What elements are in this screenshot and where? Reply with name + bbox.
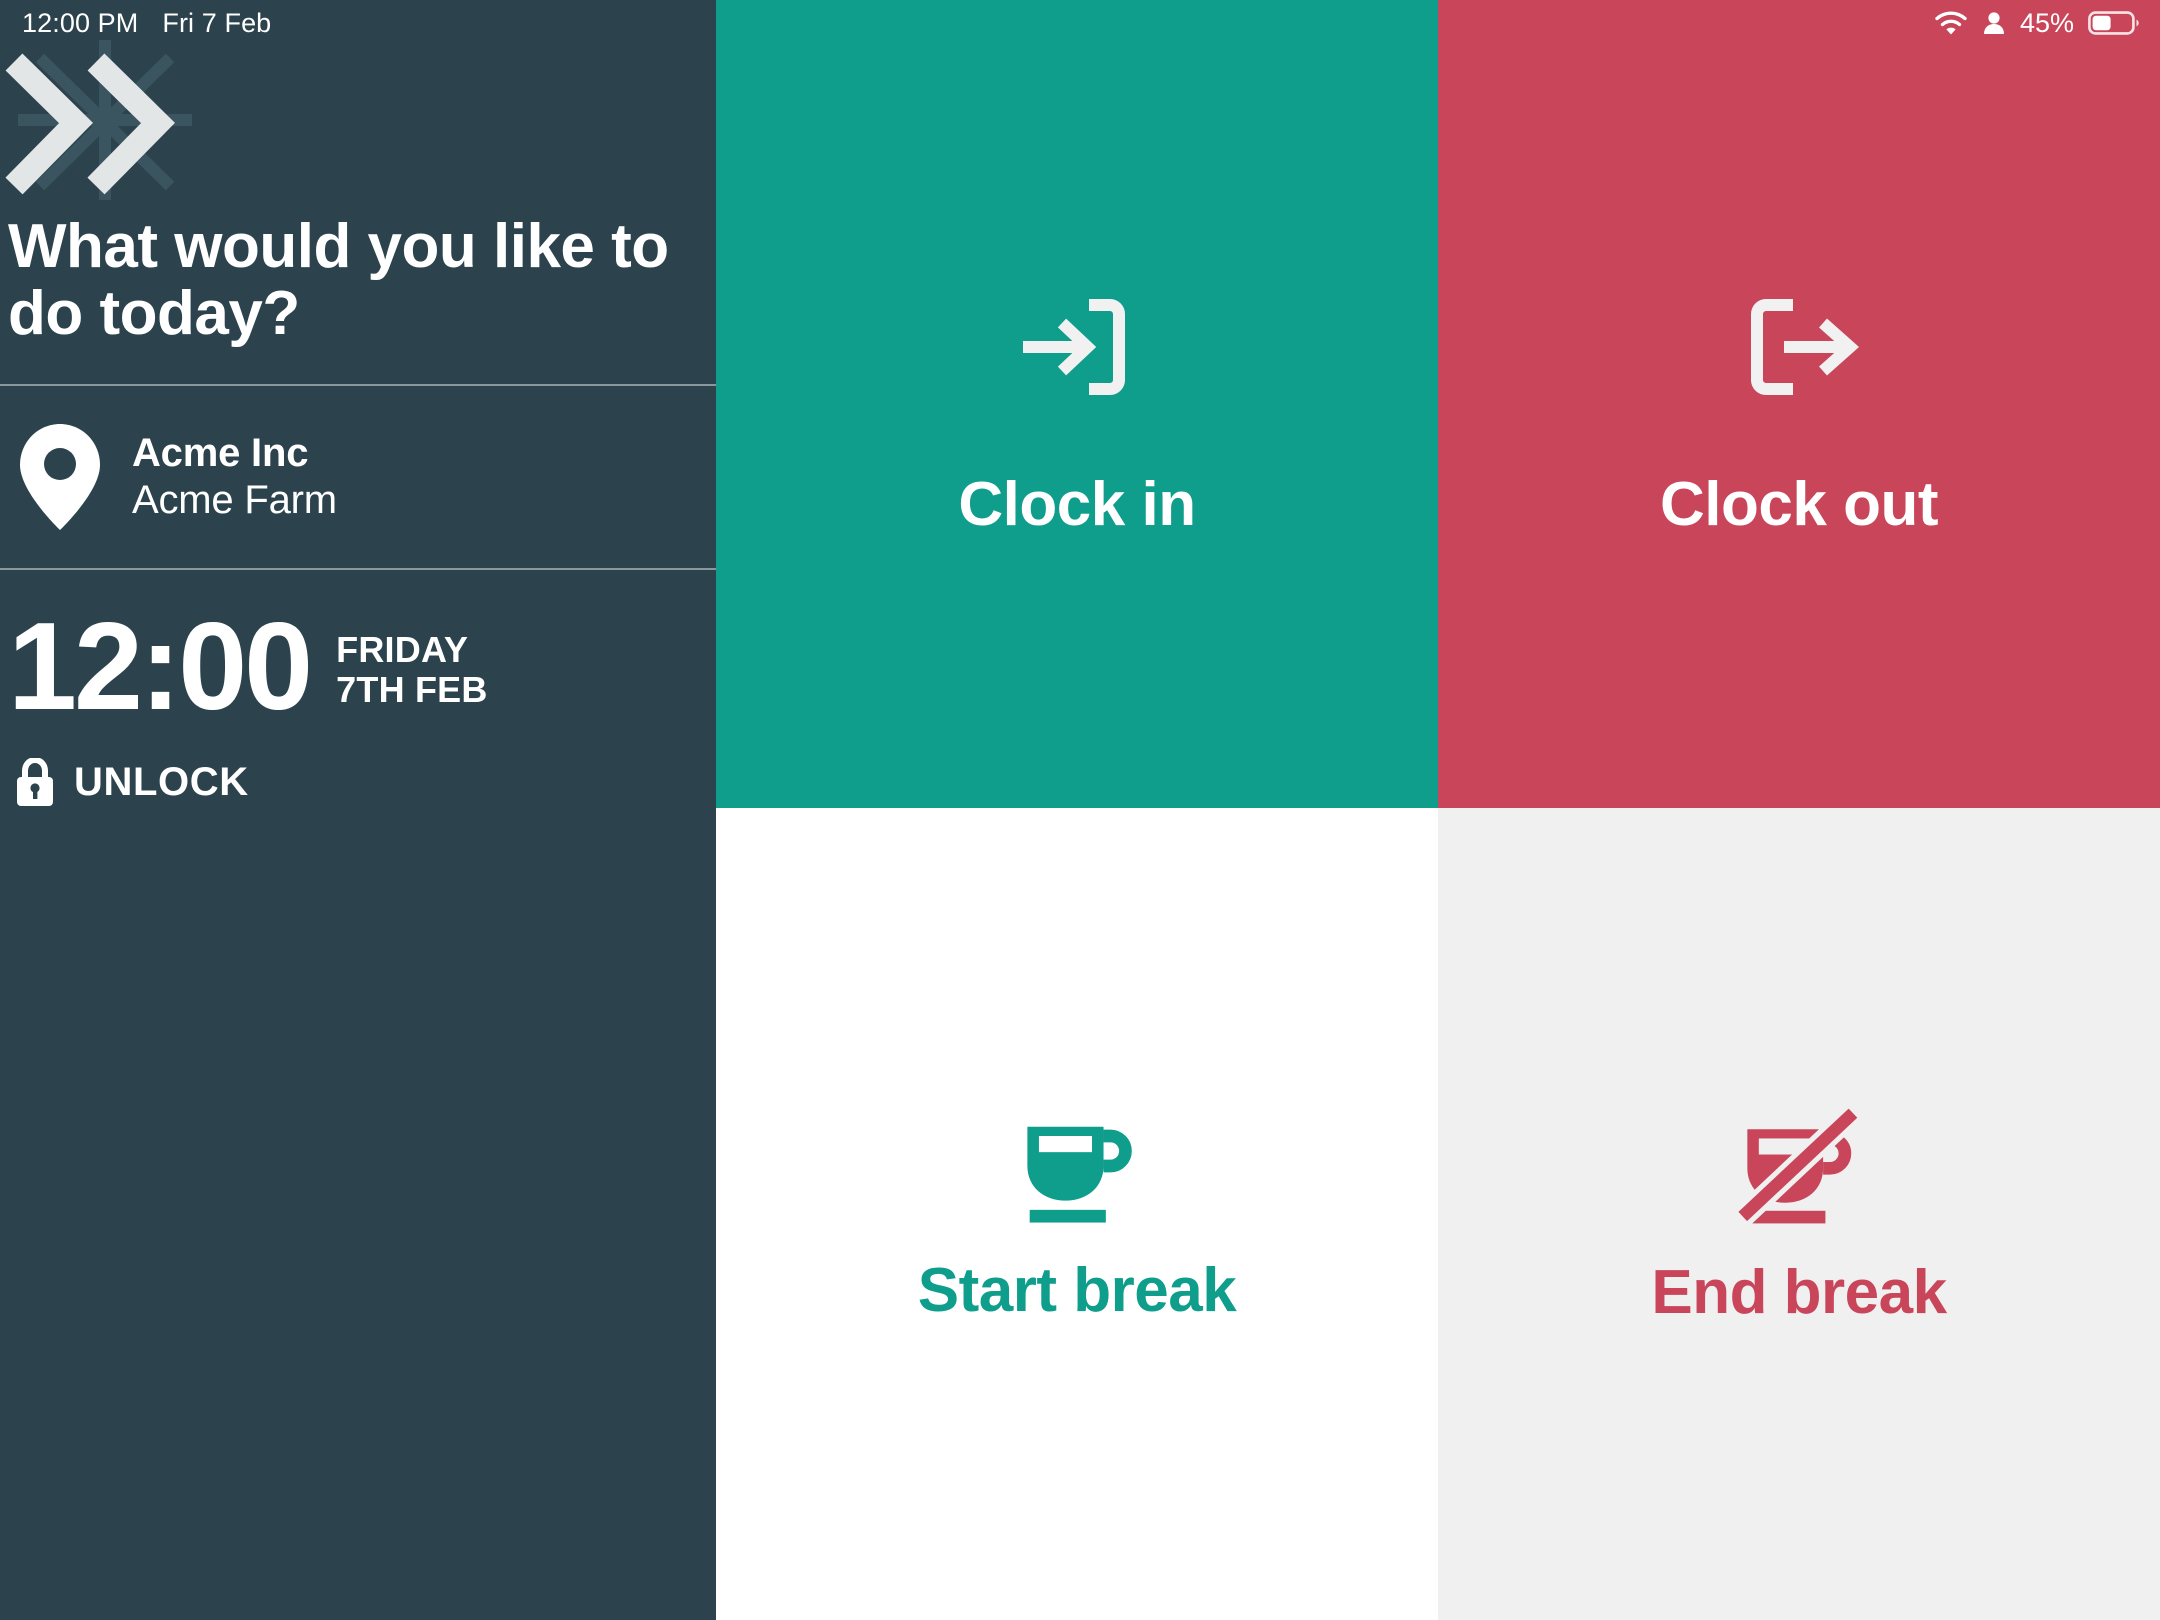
status-bar-date: Fri 7 Feb [162,8,271,39]
start-break-label: Start break [918,1260,1236,1322]
login-arrow-icon [1002,272,1152,422]
coffee-cup-icon [1013,1106,1141,1226]
heading-block: What would you like to do today? [0,214,716,348]
clock-in-label: Clock in [958,474,1195,536]
current-day-of-week: FRIDAY [336,630,487,670]
sidebar-panel: 12:00 PM Fri 7 Feb What would you li [0,0,716,1620]
current-day-of-month: 7TH FEB [336,670,487,710]
clock-row: 12:00 FRIDAY 7TH FEB [8,610,706,724]
status-bar-right: 45% [1934,0,2160,46]
double-chevron-logo-icon [0,40,210,200]
unlock-button[interactable]: UNLOCK [8,758,706,808]
location-text: Acme Inc Acme Farm [132,430,337,524]
status-bar-time: 12:00 PM [22,8,138,39]
padlock-locked-icon [14,758,56,808]
end-break-label: End break [1651,1262,1946,1324]
app-logo [0,40,210,200]
current-date: FRIDAY 7TH FEB [336,624,487,711]
clock-out-label: Clock out [1660,474,1938,536]
unlock-label: UNLOCK [74,760,249,805]
coffee-cup-slashed-icon [1731,1104,1867,1228]
status-bar-left: 12:00 PM Fri 7 Feb [0,0,716,46]
location-row[interactable]: Acme Inc Acme Farm [0,386,716,568]
person-icon [1982,10,2006,36]
action-grid: Clock in Clock out Start break [716,0,2160,1620]
wifi-icon [1934,10,1968,36]
battery-icon [2088,10,2140,36]
clock-out-button[interactable]: Clock out [1438,0,2160,808]
logout-arrow-icon [1724,272,1874,422]
end-break-button[interactable]: End break [1438,808,2160,1620]
start-break-button[interactable]: Start break [716,808,1438,1620]
battery-percentage: 45% [2020,8,2074,39]
page-title: What would you like to do today? [8,214,686,348]
current-time: 12:00 [8,610,310,724]
map-pin-icon [18,422,102,532]
location-company: Acme Inc [132,430,337,477]
clock-block: 12:00 FRIDAY 7TH FEB UNLOCK [0,570,716,1620]
location-site: Acme Farm [132,477,337,524]
kiosk-screen: 12:00 PM Fri 7 Feb What would you li [0,0,2160,1620]
clock-in-button[interactable]: Clock in [716,0,1438,808]
